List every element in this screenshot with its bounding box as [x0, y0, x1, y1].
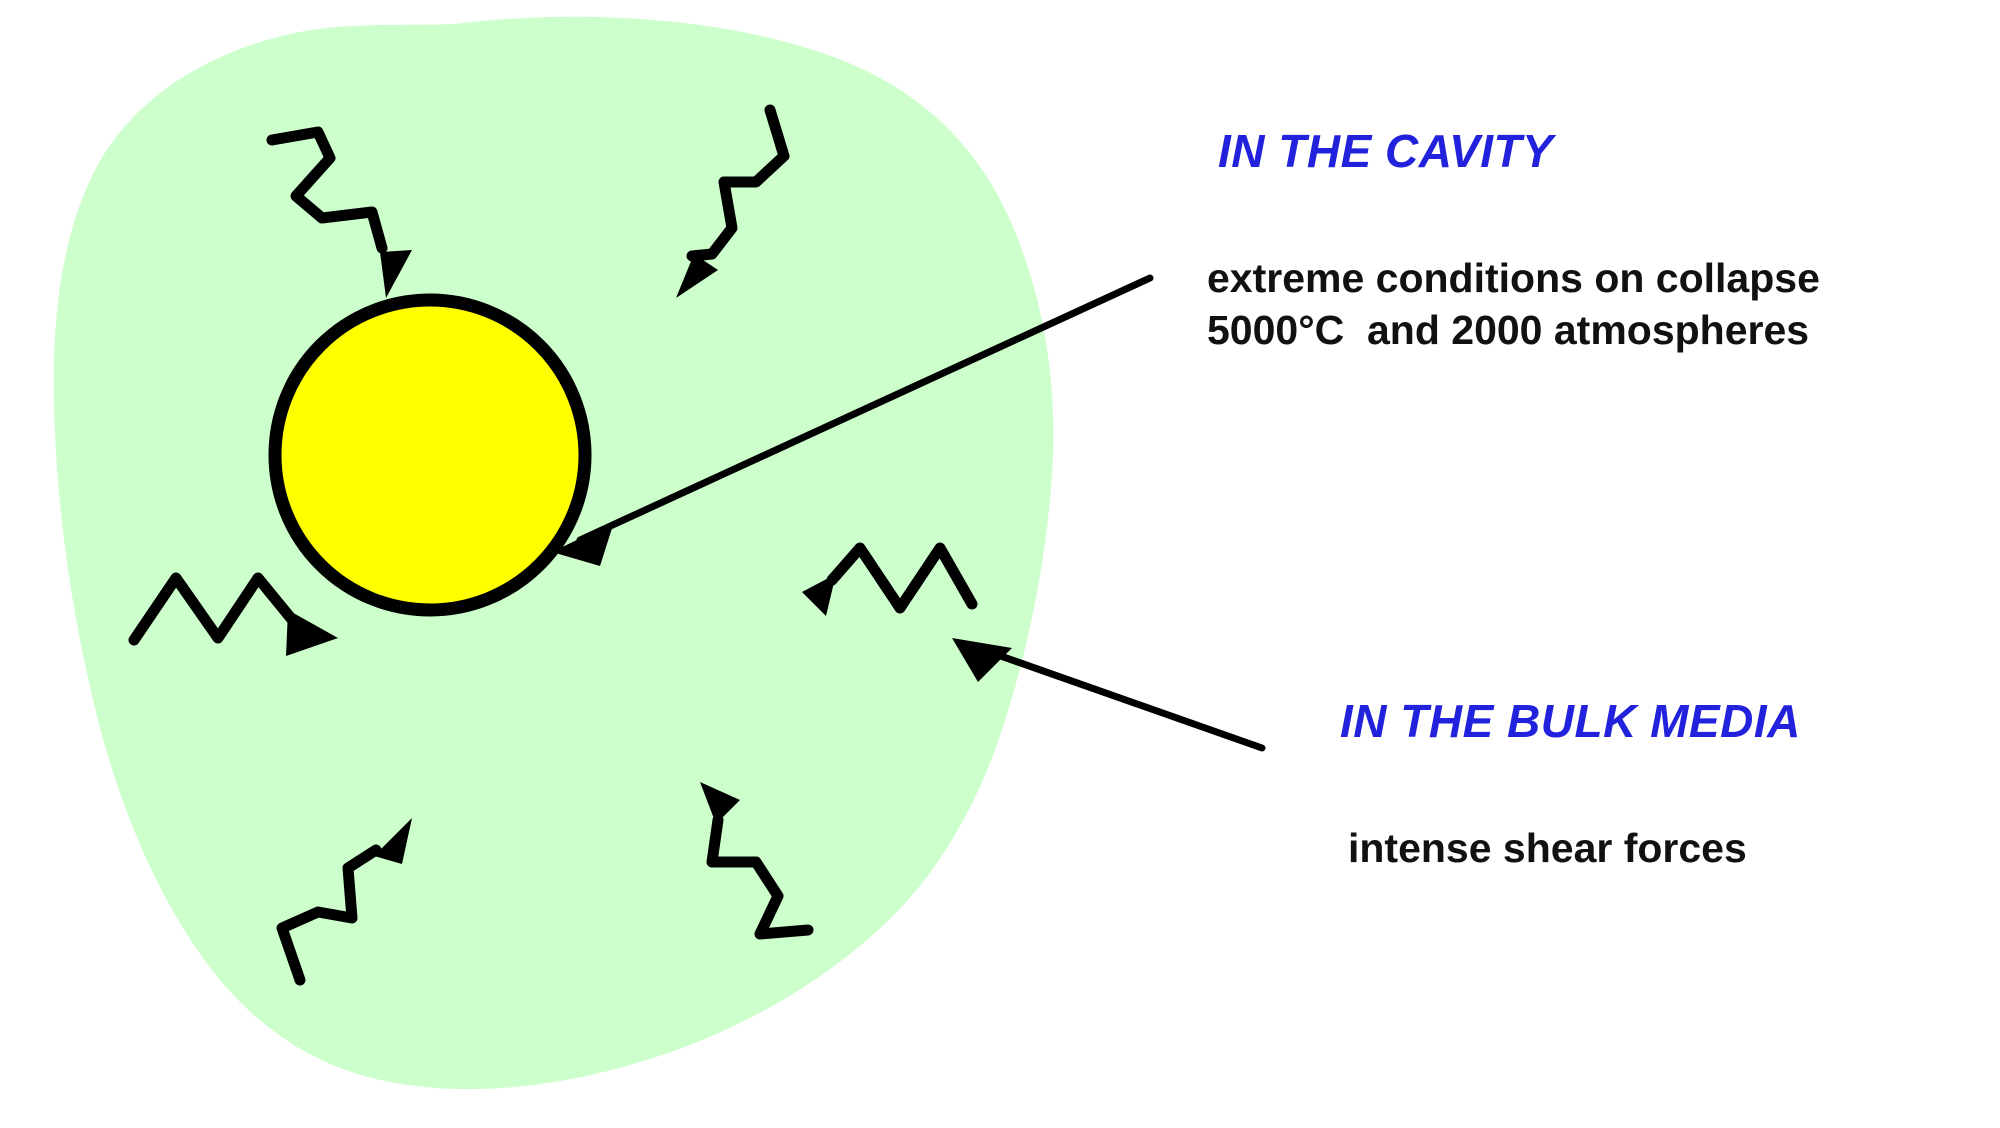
cavity-bubble	[275, 300, 585, 610]
bulk-heading: IN THE BULK MEDIA	[1340, 692, 1801, 751]
pointer-arrow-bulk-line	[978, 648, 1262, 748]
cavity-description-line-1: extreme conditions on collapse	[1207, 255, 1820, 301]
cavity-description-line-2: 5000°C and 2000 atmospheres	[1207, 307, 1809, 353]
cavity-heading: IN THE CAVITY	[1218, 122, 1553, 181]
figure-canvas: IN THE CAVITY extreme conditions on coll…	[0, 0, 2000, 1128]
diagram-svg	[0, 0, 2000, 1128]
cavity-description: extreme conditions on collapse5000°C and…	[1207, 252, 1820, 357]
bulk-description: intense shear forces	[1348, 822, 1747, 874]
